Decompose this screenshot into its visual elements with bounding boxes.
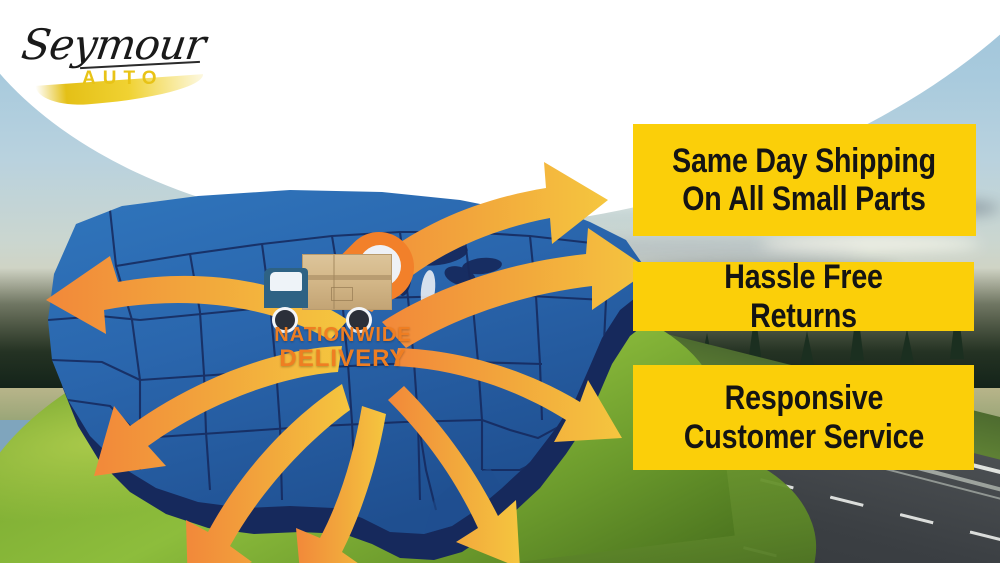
feature-box-hassle-free-returns[interactable]: Hassle Free Returns <box>633 262 974 331</box>
feature-text: Same Day Shipping On All Small Parts <box>673 142 937 218</box>
delivery-truck-icon <box>262 254 392 324</box>
truck-cab <box>264 268 308 308</box>
brand-logo[interactable]: Seymour AUTO <box>18 18 218 100</box>
feature-text: Responsive Customer Service <box>683 379 923 455</box>
feature-text: Hassle Free Returns <box>669 258 939 334</box>
nationwide-delivery-label: NATIONWIDE DELIVERY <box>262 324 424 373</box>
promo-banner: Seymour AUTO <box>0 0 1000 563</box>
feature-box-responsive-customer-service[interactable]: Responsive Customer Service <box>633 365 974 470</box>
brand-sub-name: AUTO <box>82 68 163 90</box>
box-label <box>331 287 353 301</box>
callout-line-1: NATIONWIDE <box>262 324 424 346</box>
truck-window <box>270 272 302 291</box>
box-tape <box>303 275 391 280</box>
truck-cargo-box <box>302 254 392 310</box>
tree <box>800 331 814 365</box>
feature-box-same-day-shipping[interactable]: Same Day Shipping On All Small Parts <box>633 124 976 236</box>
nationwide-delivery-callout: NATIONWIDE DELIVERY <box>262 232 432 372</box>
callout-line-2: DELIVERY <box>262 346 424 373</box>
